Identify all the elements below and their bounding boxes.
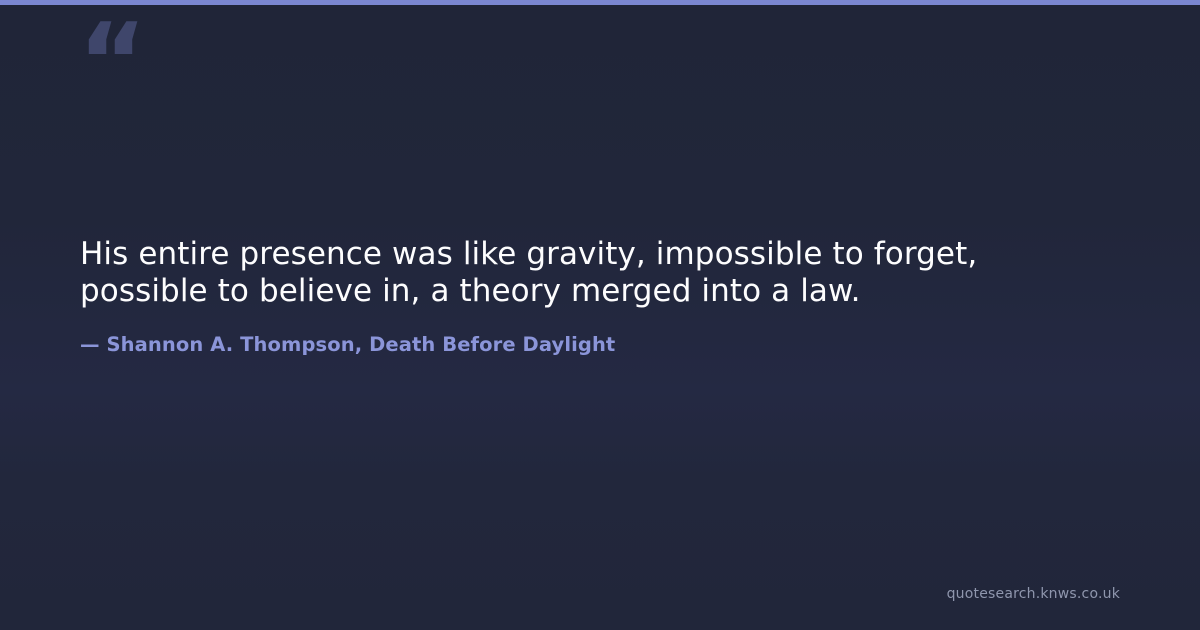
- quote-card: “ His entire presence was like gravity, …: [0, 0, 1200, 630]
- quote-content: His entire presence was like gravity, im…: [80, 236, 1016, 356]
- top-accent-bar: [0, 0, 1200, 5]
- quote-attribution: — Shannon A. Thompson, Death Before Dayl…: [80, 333, 1016, 356]
- site-watermark: quotesearch.knws.co.uk: [947, 586, 1120, 602]
- opening-quote-icon: “: [78, 10, 145, 115]
- quote-text: His entire presence was like gravity, im…: [80, 236, 1016, 309]
